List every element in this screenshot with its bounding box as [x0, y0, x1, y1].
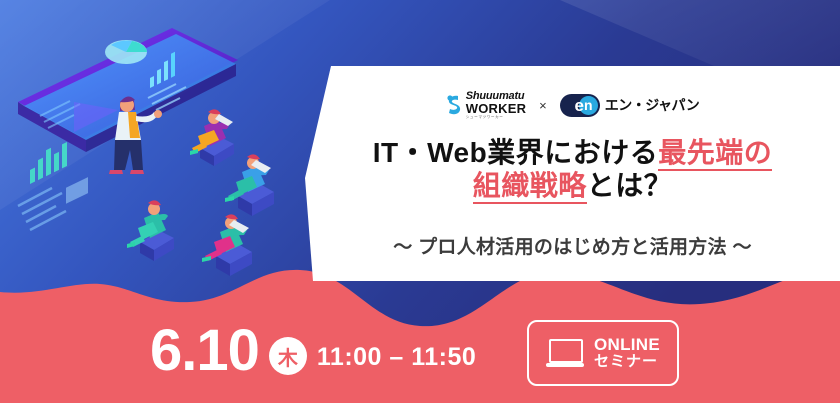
weekday-badge: 木: [269, 337, 307, 375]
isometric-dashboard-illustration: [0, 10, 330, 290]
online-badge-text: ONLINE セミナー: [594, 335, 660, 371]
schedule-row: 6.10 木 11:00 – 11:50: [150, 318, 476, 384]
en-japan-name: エン・ジャパン: [605, 95, 700, 115]
title-line2-highlight: 組織戦略: [473, 170, 587, 204]
shuuumatu-mark-icon: [446, 94, 462, 116]
laptop-screen: [549, 339, 583, 363]
shuuumatu-worker-logo: Shuuumatu WORKER シューマツワーカー: [446, 91, 526, 120]
shuuumatu-line2: WORKER: [466, 102, 526, 115]
en-letter-e: e: [575, 97, 584, 114]
shuuumatu-line3: シューマツワーカー: [466, 116, 526, 120]
event-date: 6.10: [150, 322, 259, 380]
page-title: IT・Web業界における最先端の 組織戦略とは？: [305, 136, 840, 202]
seminar-label: セミナー: [594, 354, 660, 371]
laptop-base: [546, 363, 584, 367]
title-line-2: 組織戦略とは？: [305, 169, 840, 202]
logo-separator-x: ×: [539, 98, 547, 113]
en-japan-logo: e n エン・ジャパン: [560, 94, 700, 117]
online-label: ONLINE: [594, 335, 660, 354]
shuuumatu-wordmark: Shuuumatu WORKER シューマツワーカー: [466, 91, 526, 120]
title-line1-highlight: 最先端の: [658, 137, 772, 171]
laptop-icon: [546, 339, 584, 367]
title-line-1: IT・Web業界における最先端の: [305, 136, 840, 169]
en-mark-icon: e n: [560, 94, 600, 117]
title-line1-plain: IT・Web業界における: [373, 137, 658, 168]
online-seminar-badge: ONLINE セミナー: [527, 320, 679, 386]
webinar-banner: Shuuumatu WORKER シューマツワーカー × e n エン・ジャパン…: [0, 0, 840, 403]
en-letter-n: n: [584, 98, 593, 112]
logo-row: Shuuumatu WORKER シューマツワーカー × e n エン・ジャパン: [305, 88, 840, 122]
subtitle: 〜 プロ人材活用のはじめ方と活用方法 〜: [305, 232, 840, 259]
event-time: 11:00 – 11:50: [317, 343, 476, 372]
title-line2-plain: とは？: [587, 170, 673, 201]
